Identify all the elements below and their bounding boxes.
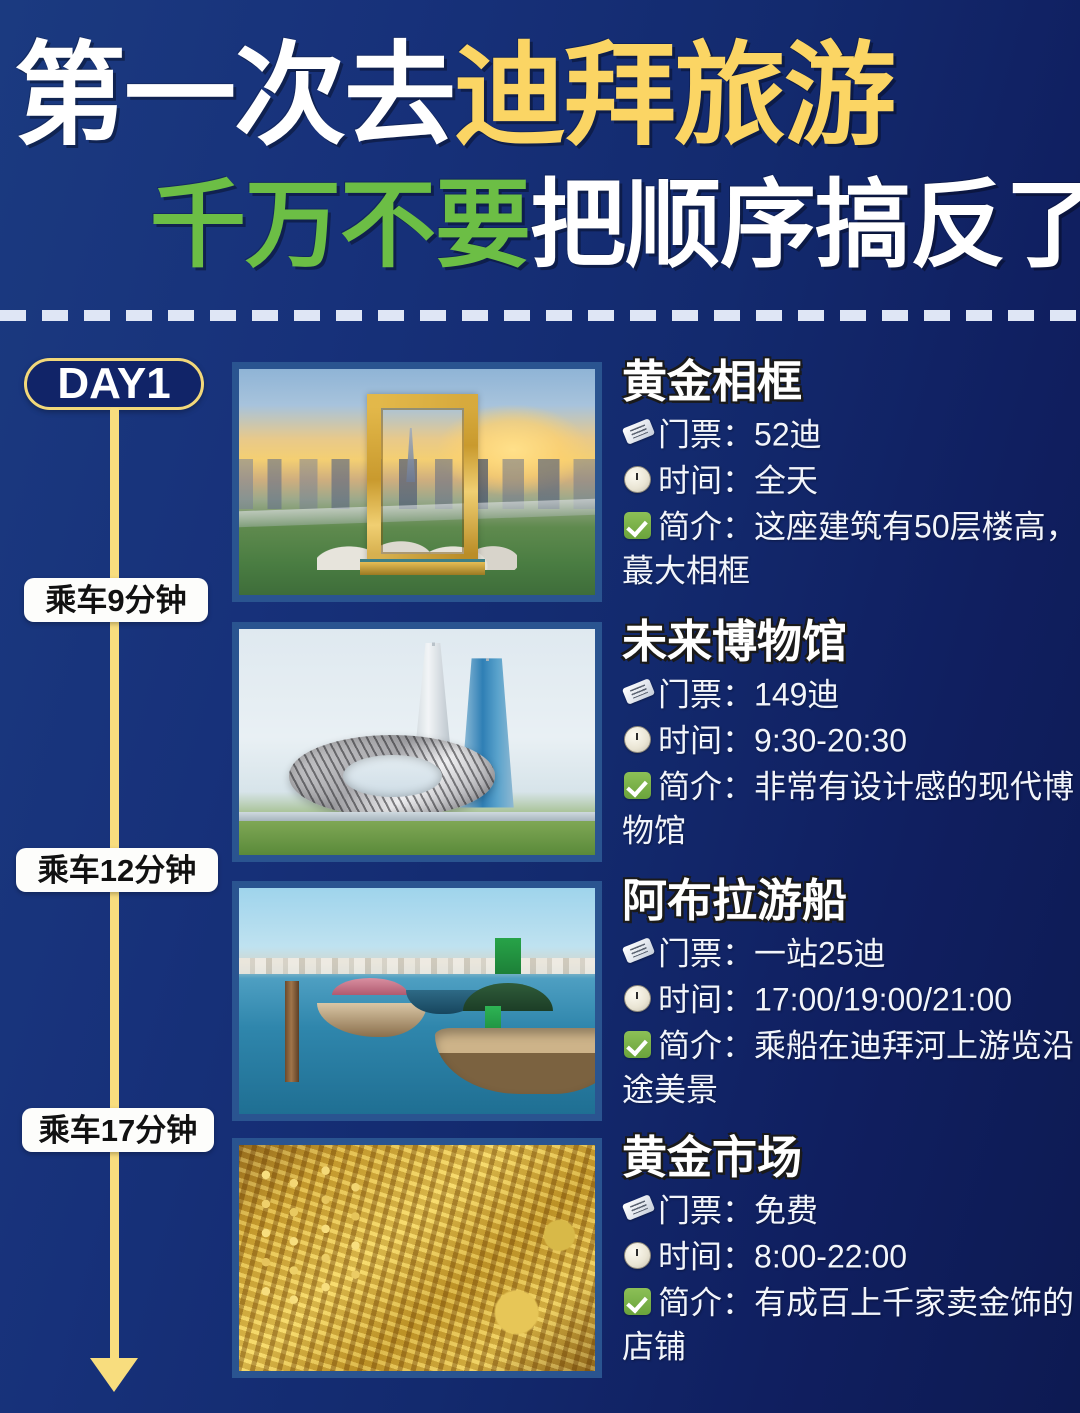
timeline-arrow-icon [90,1358,138,1392]
ticket-value: 免费 [754,1193,818,1229]
stop-info: 黄金相框 门票：52迪 时间：全天 简介：这座建筑有50层楼高，蕞大相框 [622,358,1080,593]
stop-title: 阿布拉游船 [622,877,1080,924]
day-badge-label: DAY1 [57,362,170,406]
stop-title: 黄金市场 [622,1134,1080,1181]
clock-icon [622,1240,656,1270]
time-label: 时间： [658,722,754,758]
ticket-row: 门票：免费 [622,1187,1080,1232]
time-label: 时间： [658,981,754,1017]
check-icon [622,770,656,800]
stop-title: 未来博物馆 [622,618,1080,665]
stop-info: 阿布拉游船 门票：一站25迪 时间：17:00/19:00/21:00 简介：乘… [622,877,1080,1112]
title-line-1: 第一次去迪拜旅游 [14,40,1064,152]
ticket-icon [622,1194,656,1224]
time-value: 9:30-20:30 [754,722,907,758]
infographic-page: 第一次去迪拜旅游 千万不要把顺序搞反了 DAY1 乘车9分钟 乘车12分钟 乘车… [0,0,1080,1413]
intro-label: 简介： [658,1027,754,1063]
dubai-frame-photo [232,362,602,602]
check-icon [622,1029,656,1059]
clock-icon [622,983,656,1013]
ticket-label: 门票： [658,677,754,713]
ticket-row: 门票：52迪 [622,411,1080,456]
time-label: 时间： [658,1238,754,1274]
abra-boat-photo [232,881,602,1121]
stop-title: 黄金相框 [622,358,1080,405]
title-line-1-yellow: 迪拜旅游 [454,33,894,158]
day-badge: DAY1 [24,358,204,410]
stop-item: 阿布拉游船 门票：一站25迪 时间：17:00/19:00/21:00 简介：乘… [232,877,1080,1135]
intro-row: 简介：这座建筑有50层楼高，蕞大相框 [622,503,1080,592]
timeline-rail: DAY1 乘车9分钟 乘车12分钟 乘车17分钟 [0,340,230,1400]
gold-souk-photo [232,1138,602,1378]
intro-row: 简介：乘船在迪拜河上游览沿途美景 [622,1022,1080,1111]
ticket-value: 149迪 [754,677,839,713]
time-value: 17:00/19:00/21:00 [754,981,1012,1017]
ticket-value: 一站25迪 [754,936,886,972]
dashed-divider [0,310,1080,321]
ticket-label: 门票： [658,417,754,453]
clock-icon [622,464,656,494]
ticket-label: 门票： [658,936,754,972]
ticket-icon [622,418,656,448]
transit-chip-1-label: 乘车9分钟 [45,585,186,616]
time-row: 时间：9:30-20:30 [622,717,1080,762]
transit-chip-2: 乘车12分钟 [16,848,218,892]
time-row: 时间：17:00/19:00/21:00 [622,976,1080,1021]
transit-chip-3: 乘车17分钟 [22,1108,214,1152]
museum-of-the-future-photo [232,622,602,862]
time-row: 时间：全天 [622,457,1080,502]
title-line-1-white: 第一次去 [14,33,454,158]
intro-row: 简介：非常有设计感的现代博物馆 [622,763,1080,852]
header: 第一次去迪拜旅游 千万不要把顺序搞反了 [0,0,1080,316]
intro-label: 简介： [658,508,754,544]
check-icon [622,510,656,540]
time-value: 8:00-22:00 [754,1238,907,1274]
clock-icon [622,724,656,754]
stop-item: 未来博物馆 门票：149迪 时间：9:30-20:30 简介：非常有设计感的现代… [232,618,1080,876]
stop-info: 未来博物馆 门票：149迪 时间：9:30-20:30 简介：非常有设计感的现代… [622,618,1080,853]
stop-item: 黄金市场 门票：免费 时间：8:00-22:00 简介：有成百上千家卖金饰的店铺 [232,1134,1080,1392]
transit-chip-2-label: 乘车12分钟 [38,855,196,886]
title-line-2-white: 把顺序搞反了 [530,172,1080,279]
ticket-icon [622,678,656,708]
check-icon [622,1286,656,1316]
stop-info: 黄金市场 门票：免费 时间：8:00-22:00 简介：有成百上千家卖金饰的店铺 [622,1134,1080,1369]
ticket-value: 52迪 [754,417,822,453]
transit-chip-3-label: 乘车17分钟 [39,1115,197,1146]
stop-item: 黄金相框 门票：52迪 时间：全天 简介：这座建筑有50层楼高，蕞大相框 [232,358,1080,616]
transit-chip-1: 乘车9分钟 [24,578,208,622]
ticket-row: 门票：149迪 [622,671,1080,716]
time-value: 全天 [754,462,818,498]
time-label: 时间： [658,462,754,498]
ticket-label: 门票： [658,1193,754,1229]
intro-label: 简介： [658,768,754,804]
intro-row: 简介：有成百上千家卖金饰的店铺 [622,1279,1080,1368]
ticket-row: 门票：一站25迪 [622,930,1080,975]
time-row: 时间：8:00-22:00 [622,1233,1080,1278]
title-line-2: 千万不要把顺序搞反了 [150,178,1080,274]
intro-label: 简介： [658,1284,754,1320]
ticket-icon [622,937,656,967]
title-line-2-green: 千万不要 [150,172,530,279]
